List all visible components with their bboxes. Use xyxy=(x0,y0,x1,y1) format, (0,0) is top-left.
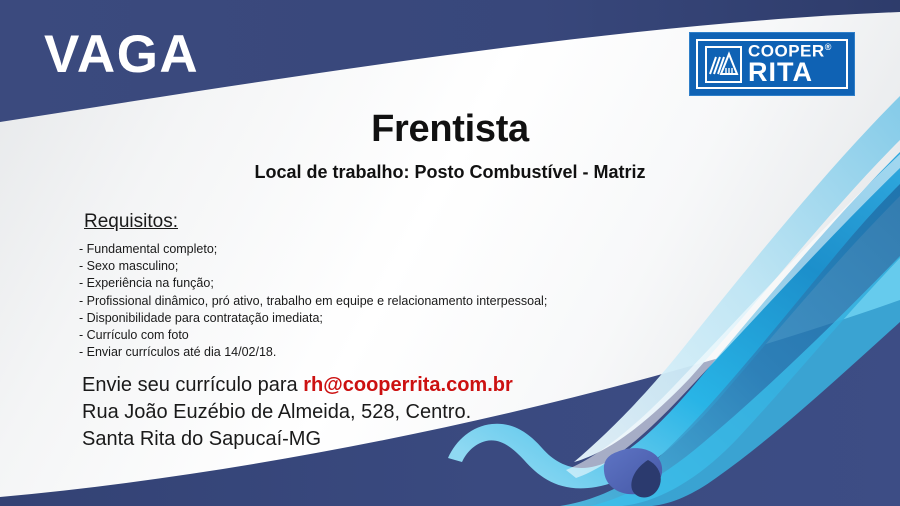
list-item: - Fundamental completo; xyxy=(79,241,599,258)
job-vacancy-poster: VAGA xyxy=(0,0,900,506)
vaga-badge-label: VAGA xyxy=(44,28,199,81)
logo-wordmark: COOPER® RITA xyxy=(748,43,831,84)
requirements-heading: Requisitos: xyxy=(84,211,178,233)
cooper-rita-logo: COOPER® RITA xyxy=(690,33,854,95)
list-item: - Enviar currículos até dia 14/02/18. xyxy=(79,344,599,361)
logo-inner-frame: COOPER® RITA xyxy=(696,39,848,89)
list-item: - Sexo masculino; xyxy=(79,258,599,275)
contact-address-street: Rua João Euzébio de Almeida, 528, Centro… xyxy=(82,399,642,426)
registered-mark-icon: ® xyxy=(825,42,832,52)
contact-address-city: Santa Rita do Sapucaí-MG xyxy=(82,426,642,453)
contact-block: Envie seu currículo para rh@cooperrita.c… xyxy=(82,372,642,453)
contact-email-address[interactable]: rh@cooperrita.com.br xyxy=(303,374,513,396)
list-item: - Experiência na função; xyxy=(79,275,599,292)
list-item: - Currículo com foto xyxy=(79,327,599,344)
job-title: Frentista xyxy=(0,108,900,151)
logo-brand-bottom: RITA xyxy=(748,60,831,85)
job-location-subtitle: Local de trabalho: Posto Combustível - M… xyxy=(0,162,900,183)
list-item: - Disponibilidade para contratação imedi… xyxy=(79,310,599,327)
mountain-lines-icon xyxy=(705,46,742,83)
contact-email-line: Envie seu currículo para rh@cooperrita.c… xyxy=(82,372,642,399)
send-cv-label: Envie seu currículo para xyxy=(82,374,303,396)
requirements-list: - Fundamental completo; - Sexo masculino… xyxy=(79,241,599,361)
list-item: - Profissional dinâmico, pró ativo, trab… xyxy=(79,293,599,310)
